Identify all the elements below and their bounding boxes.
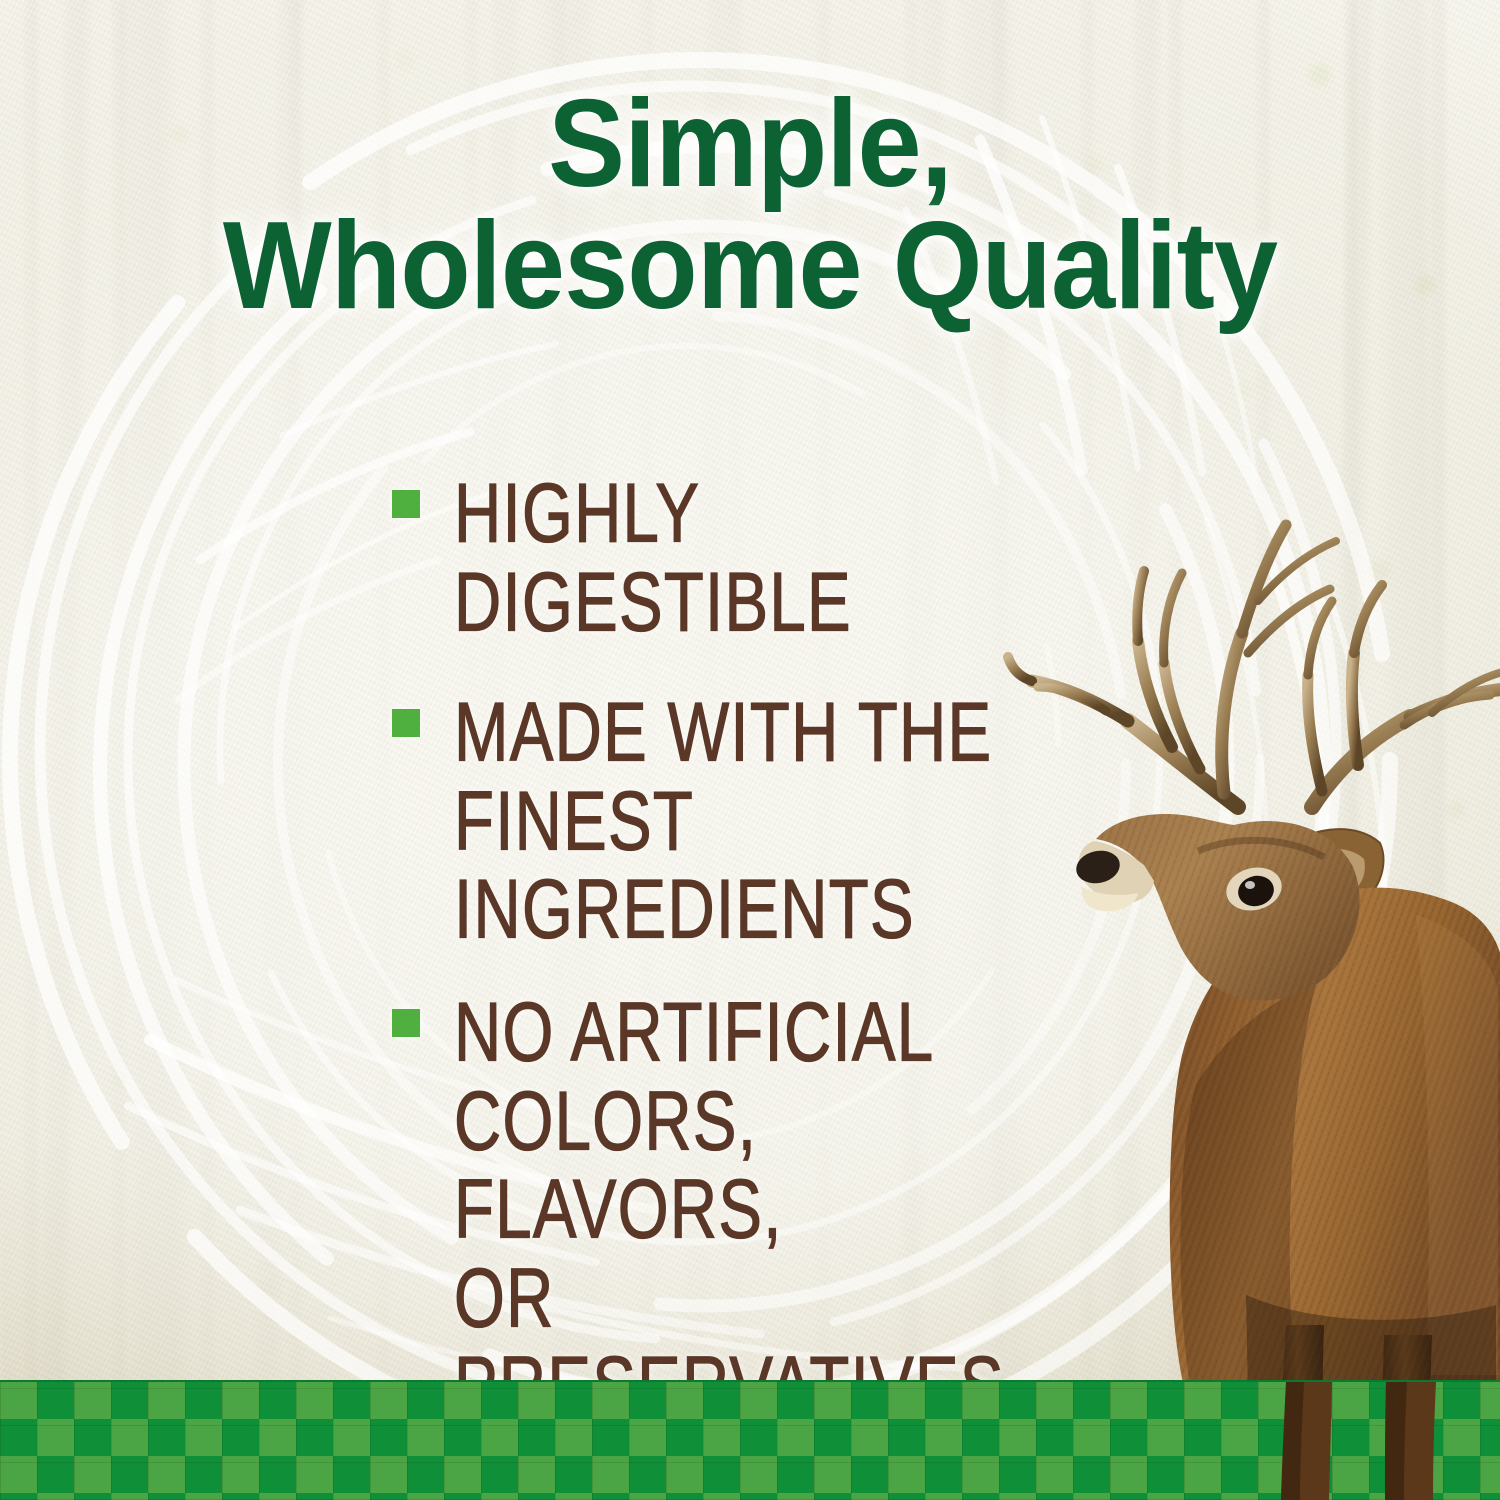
list-item-label: MADE WITH THE FINEST INGREDIENTS [454,689,994,955]
headline-line-2: Wholesome Quality [53,206,1448,328]
list-item: MADE WITH THE FINEST INGREDIENTS [392,689,1082,931]
page-title: Simple, Wholesome Quality [53,84,1448,327]
poster-canvas: Simple, Wholesome Quality HIGHLY DIGESTI… [0,0,1500,1500]
list-item: HIGHLY DIGESTIBLE [392,470,1082,631]
list-item: NO ARTIFICIAL COLORS, FLAVORS, OR PRESER… [392,989,1082,1392]
green-square-bullet-icon [392,709,420,737]
green-square-bullet-icon [392,1009,420,1037]
headline-line-1: Simple, [53,84,1448,206]
list-item-label: NO ARTIFICIAL COLORS, FLAVORS, OR PRESER… [454,989,1005,1432]
green-square-bullet-icon [392,490,420,518]
list-item-label: HIGHLY DIGESTIBLE [454,470,994,647]
feature-bullet-list: HIGHLY DIGESTIBLE MADE WITH THE FINEST I… [392,470,1082,1391]
checkerboard-grid-lines [0,1382,1500,1500]
checkerboard-footer-band [0,1380,1500,1500]
